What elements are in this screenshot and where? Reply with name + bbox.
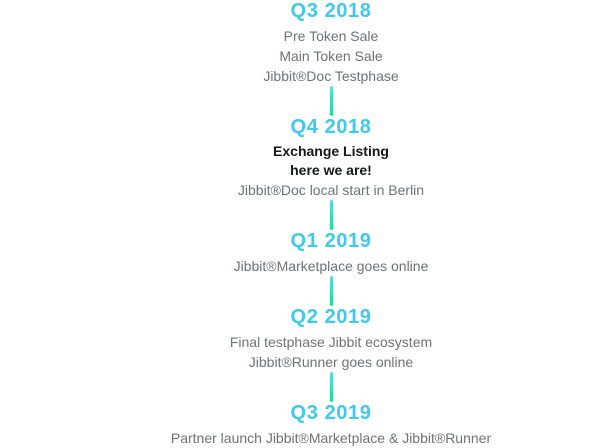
milestone-detail-line: Final testphase Jibbit ecosystem bbox=[230, 332, 432, 352]
milestone-detail-lines: Final testphase Jibbit ecosystem Jibbit®… bbox=[230, 332, 432, 372]
milestone-detail-lines: Partner launch Jibbit®Marketplace & Jibb… bbox=[171, 428, 491, 448]
milestone-detail-lines: Exchange Listing here we are! Jibbit®Doc… bbox=[238, 142, 424, 200]
timeline-connector bbox=[330, 86, 333, 116]
milestone-q2-2019: Q2 2019 Final testphase Jibbit ecosystem… bbox=[50, 306, 612, 372]
milestone-detail-line: Jibbit®Marketplace goes online bbox=[234, 256, 429, 276]
milestone-heading: Q3 2019 bbox=[291, 402, 372, 425]
milestone-detail-line: Partner launch Jibbit®Marketplace & Jibb… bbox=[171, 428, 491, 448]
milestone-detail-lines: Pre Token Sale Main Token Sale Jibbit®Do… bbox=[263, 26, 398, 86]
milestone-heading: Q2 2019 bbox=[291, 306, 372, 329]
milestone-heading: Q1 2019 bbox=[291, 230, 372, 253]
milestone-detail-line: Main Token Sale bbox=[279, 46, 382, 66]
milestone-heading: Q4 2018 bbox=[291, 116, 372, 139]
timeline-connector bbox=[330, 372, 333, 402]
timeline-connector bbox=[330, 276, 333, 306]
milestone-detail-line: Jibbit®Doc Testphase bbox=[263, 66, 398, 86]
milestone-detail-line-highlight: Exchange Listing bbox=[273, 142, 389, 161]
timeline-connector bbox=[330, 200, 333, 230]
milestone-current-status: here we are! bbox=[290, 161, 372, 180]
milestone-detail-lines: Jibbit®Marketplace goes online bbox=[234, 256, 429, 276]
milestone-q3-2018: Q3 2018 Pre Token Sale Main Token Sale J… bbox=[50, 0, 612, 86]
roadmap-timeline: Q3 2018 Pre Token Sale Main Token Sale J… bbox=[0, 0, 612, 441]
milestone-detail-line: Jibbit®Runner goes online bbox=[249, 352, 413, 372]
milestone-q1-2019: Q1 2019 Jibbit®Marketplace goes online bbox=[50, 230, 612, 276]
milestone-detail-line: Pre Token Sale bbox=[284, 26, 379, 46]
milestone-heading: Q3 2018 bbox=[291, 0, 372, 23]
milestone-q4-2018: Q4 2018 Exchange Listing here we are! Ji… bbox=[50, 116, 612, 200]
milestone-detail-line: Jibbit®Doc local start in Berlin bbox=[238, 180, 424, 200]
milestone-q3-2019: Q3 2019 Partner launch Jibbit®Marketplac… bbox=[50, 402, 612, 448]
